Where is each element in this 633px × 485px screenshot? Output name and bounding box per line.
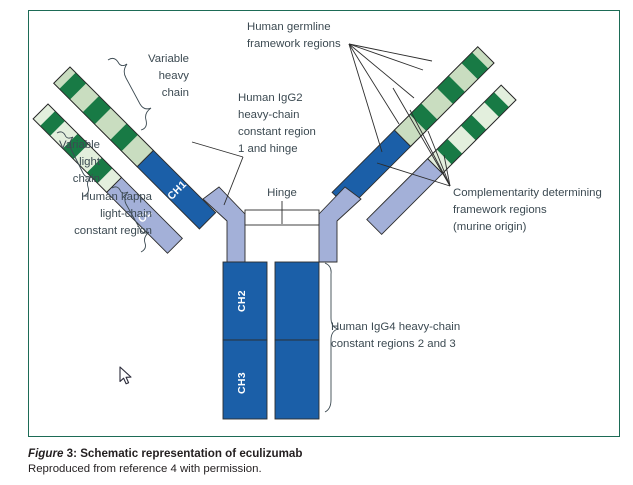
label-human-igg4-line2: constant regions 2 and 3 bbox=[331, 338, 456, 350]
label-human-igg2-line4: 1 and hinge bbox=[238, 143, 298, 155]
label-variable-light-chain-line3: chain bbox=[73, 173, 100, 185]
label-cdr-line3: (murine origin) bbox=[453, 221, 527, 233]
figure-caption: Figure 3: Schematic representation of ec… bbox=[28, 446, 628, 477]
caption-source: Reproduced from reference 4 with permiss… bbox=[28, 462, 628, 477]
label-variable-light-chain-line1: Variable bbox=[59, 139, 100, 151]
label-human-germline-line1: Human germline bbox=[247, 21, 331, 33]
label-variable-heavy-chain-line3: chain bbox=[162, 87, 189, 99]
domain-ch2-label: CH2 bbox=[236, 290, 248, 312]
label-variable-light-chain-line2: light bbox=[79, 156, 101, 168]
label-human-kappa-line1: Human kappa bbox=[81, 191, 153, 203]
label-hinge: Hinge bbox=[267, 187, 297, 199]
label-cdr-line2: framework regions bbox=[453, 204, 547, 216]
label-human-igg2-line2: heavy-chain bbox=[238, 109, 299, 121]
label-human-igg2-line3: constant region bbox=[238, 126, 316, 138]
domain-ch3-right bbox=[275, 340, 319, 419]
caption-figure-word: Figure bbox=[28, 447, 63, 460]
antibody-diagram: CH1 CL CH2 CH3 Variable heavy chain Vari… bbox=[0, 0, 633, 440]
domain-ch2-right bbox=[275, 262, 319, 340]
caption-title: Figure 3: Schematic representation of ec… bbox=[28, 446, 628, 461]
domain-ch3-label: CH3 bbox=[236, 372, 248, 394]
label-variable-heavy-chain-line2: heavy bbox=[159, 70, 190, 82]
label-human-kappa-line3: constant region bbox=[74, 225, 152, 237]
label-human-igg2-line1: Human IgG2 bbox=[238, 92, 303, 104]
label-cdr-line1: Complementarity determining bbox=[453, 187, 602, 199]
hinge-limb-right bbox=[319, 187, 361, 262]
caption-number-title: 3: Schematic representation of eculizuma… bbox=[63, 447, 302, 460]
label-human-igg4-line1: Human IgG4 heavy-chain bbox=[331, 321, 460, 333]
label-human-germline-line2: framework regions bbox=[247, 38, 341, 50]
hinge-limb-left bbox=[203, 187, 245, 262]
label-variable-heavy-chain-line1: Variable bbox=[148, 53, 189, 65]
label-human-kappa-line2: light-chain bbox=[100, 208, 152, 220]
